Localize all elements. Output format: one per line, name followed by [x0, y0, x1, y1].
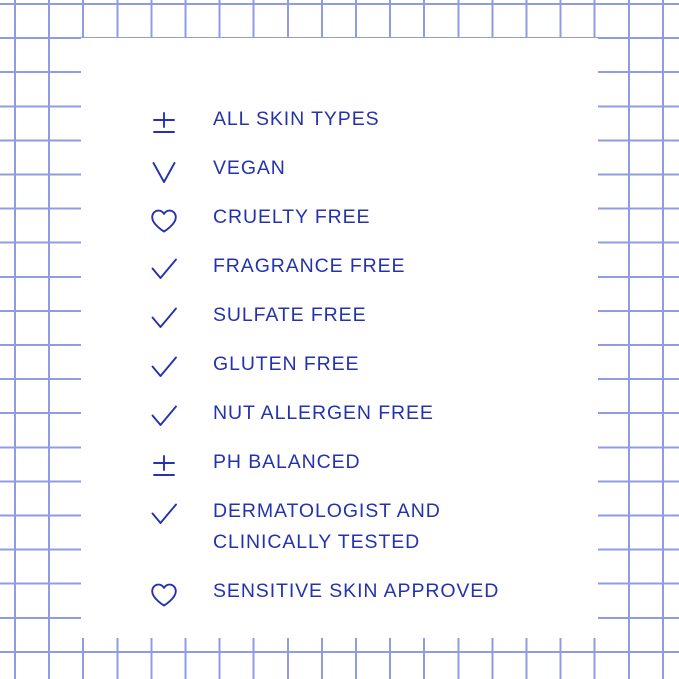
claims-card: ALL SKIN TYPESVEGANCRUELTY FREEFRAGRANCE…: [81, 38, 598, 638]
claim-row: NUT ALLERGEN FREE: [81, 388, 598, 437]
claim-label: FRAGRANCE FREE: [213, 251, 598, 282]
claim-row: FRAGRANCE FREE: [81, 241, 598, 290]
check-icon: [149, 304, 183, 334]
claim-label: PH BALANCED: [213, 447, 598, 478]
vegan-v-icon: [149, 157, 183, 187]
check-icon: [149, 255, 183, 285]
claim-row: SENSITIVE SKIN APPROVED: [81, 566, 598, 615]
claim-row: DERMATOLOGIST AND CLINICALLY TESTED: [81, 486, 598, 566]
claim-label: DERMATOLOGIST AND CLINICALLY TESTED: [213, 496, 598, 558]
claim-row: VEGAN: [81, 143, 598, 192]
check-icon: [149, 500, 183, 530]
claim-label: ALL SKIN TYPES: [213, 104, 598, 135]
heart-icon: [149, 580, 183, 610]
plus-minus-icon: [149, 451, 183, 481]
claims-list: ALL SKIN TYPESVEGANCRUELTY FREEFRAGRANCE…: [81, 38, 598, 615]
claim-row: SULFATE FREE: [81, 290, 598, 339]
heart-icon: [149, 206, 183, 236]
claim-row: CRUELTY FREE: [81, 192, 598, 241]
claim-row: PH BALANCED: [81, 437, 598, 486]
claim-label: VEGAN: [213, 153, 598, 184]
claim-label: NUT ALLERGEN FREE: [213, 398, 598, 429]
check-icon: [149, 402, 183, 432]
claim-label: CRUELTY FREE: [213, 202, 598, 233]
claim-row: ALL SKIN TYPES: [81, 94, 598, 143]
claim-label: SULFATE FREE: [213, 300, 598, 331]
claim-row: GLUTEN FREE: [81, 339, 598, 388]
claim-label: SENSITIVE SKIN APPROVED: [213, 576, 598, 607]
plus-minus-icon: [149, 108, 183, 138]
product-claims-canvas: ALL SKIN TYPESVEGANCRUELTY FREEFRAGRANCE…: [0, 0, 679, 679]
claim-label: GLUTEN FREE: [213, 349, 598, 380]
check-icon: [149, 353, 183, 383]
